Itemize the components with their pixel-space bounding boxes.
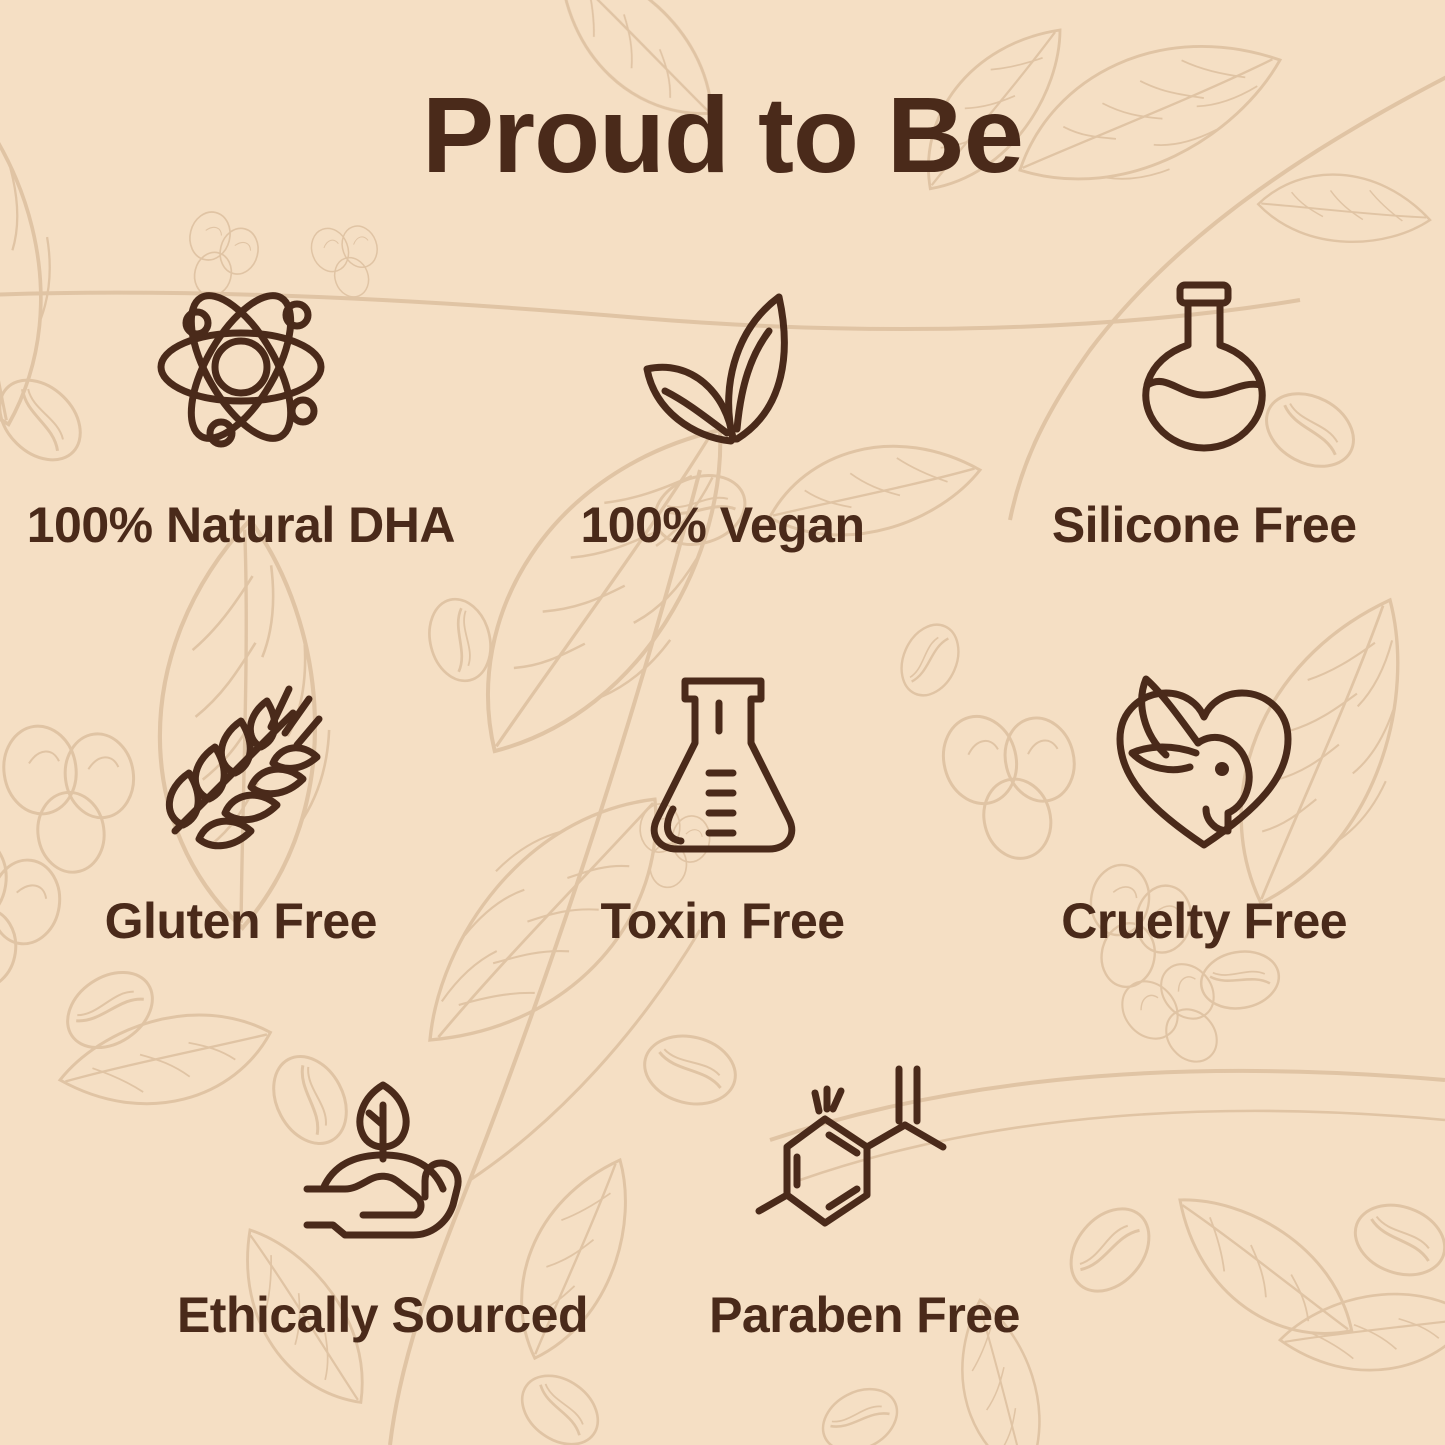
badge-row-3: Ethically Sourced xyxy=(0,1058,1445,1344)
round-flask-icon xyxy=(1110,268,1298,466)
badge-gluten-free: Gluten Free xyxy=(0,664,482,950)
badge-label: Silicone Free xyxy=(1052,496,1357,554)
badge-vegan: 100% Vegan xyxy=(482,268,964,554)
badge-row-1: 100% Natural DHA 100% Vegan xyxy=(0,268,1445,554)
badge-toxin-free: Toxin Free xyxy=(482,664,964,950)
badge-label: Toxin Free xyxy=(600,892,844,950)
badge-silicone-free: Silicone Free xyxy=(963,268,1445,554)
badge-label: Gluten Free xyxy=(105,892,377,950)
badge-label: 100% Vegan xyxy=(580,496,864,554)
badge-label: Cruelty Free xyxy=(1061,892,1347,950)
rabbit-heart-icon xyxy=(1110,664,1298,862)
wheat-icon xyxy=(147,664,335,862)
hand-plant-icon xyxy=(289,1058,477,1256)
badge-paraben-free: Paraben Free xyxy=(624,1058,1106,1344)
erlenmeyer-flask-icon xyxy=(629,664,817,862)
leaves-icon xyxy=(629,268,817,466)
badge-label: Ethically Sourced xyxy=(177,1286,588,1344)
badge-label: Paraben Free xyxy=(709,1286,1020,1344)
proud-to-be-graphic: Proud to Be xyxy=(0,0,1445,1445)
badge-ethically-sourced: Ethically Sourced xyxy=(142,1058,624,1344)
badge-natural-dha: 100% Natural DHA xyxy=(0,268,482,554)
badge-label: 100% Natural DHA xyxy=(27,496,455,554)
badge-row-2: Gluten Free xyxy=(0,664,1445,950)
benzene-molecule-icon xyxy=(771,1058,959,1256)
page-title: Proud to Be xyxy=(0,78,1445,191)
badge-grid: 100% Natural DHA 100% Vegan xyxy=(0,268,1445,1344)
badge-cruelty-free: Cruelty Free xyxy=(963,664,1445,950)
atom-icon xyxy=(147,268,335,466)
